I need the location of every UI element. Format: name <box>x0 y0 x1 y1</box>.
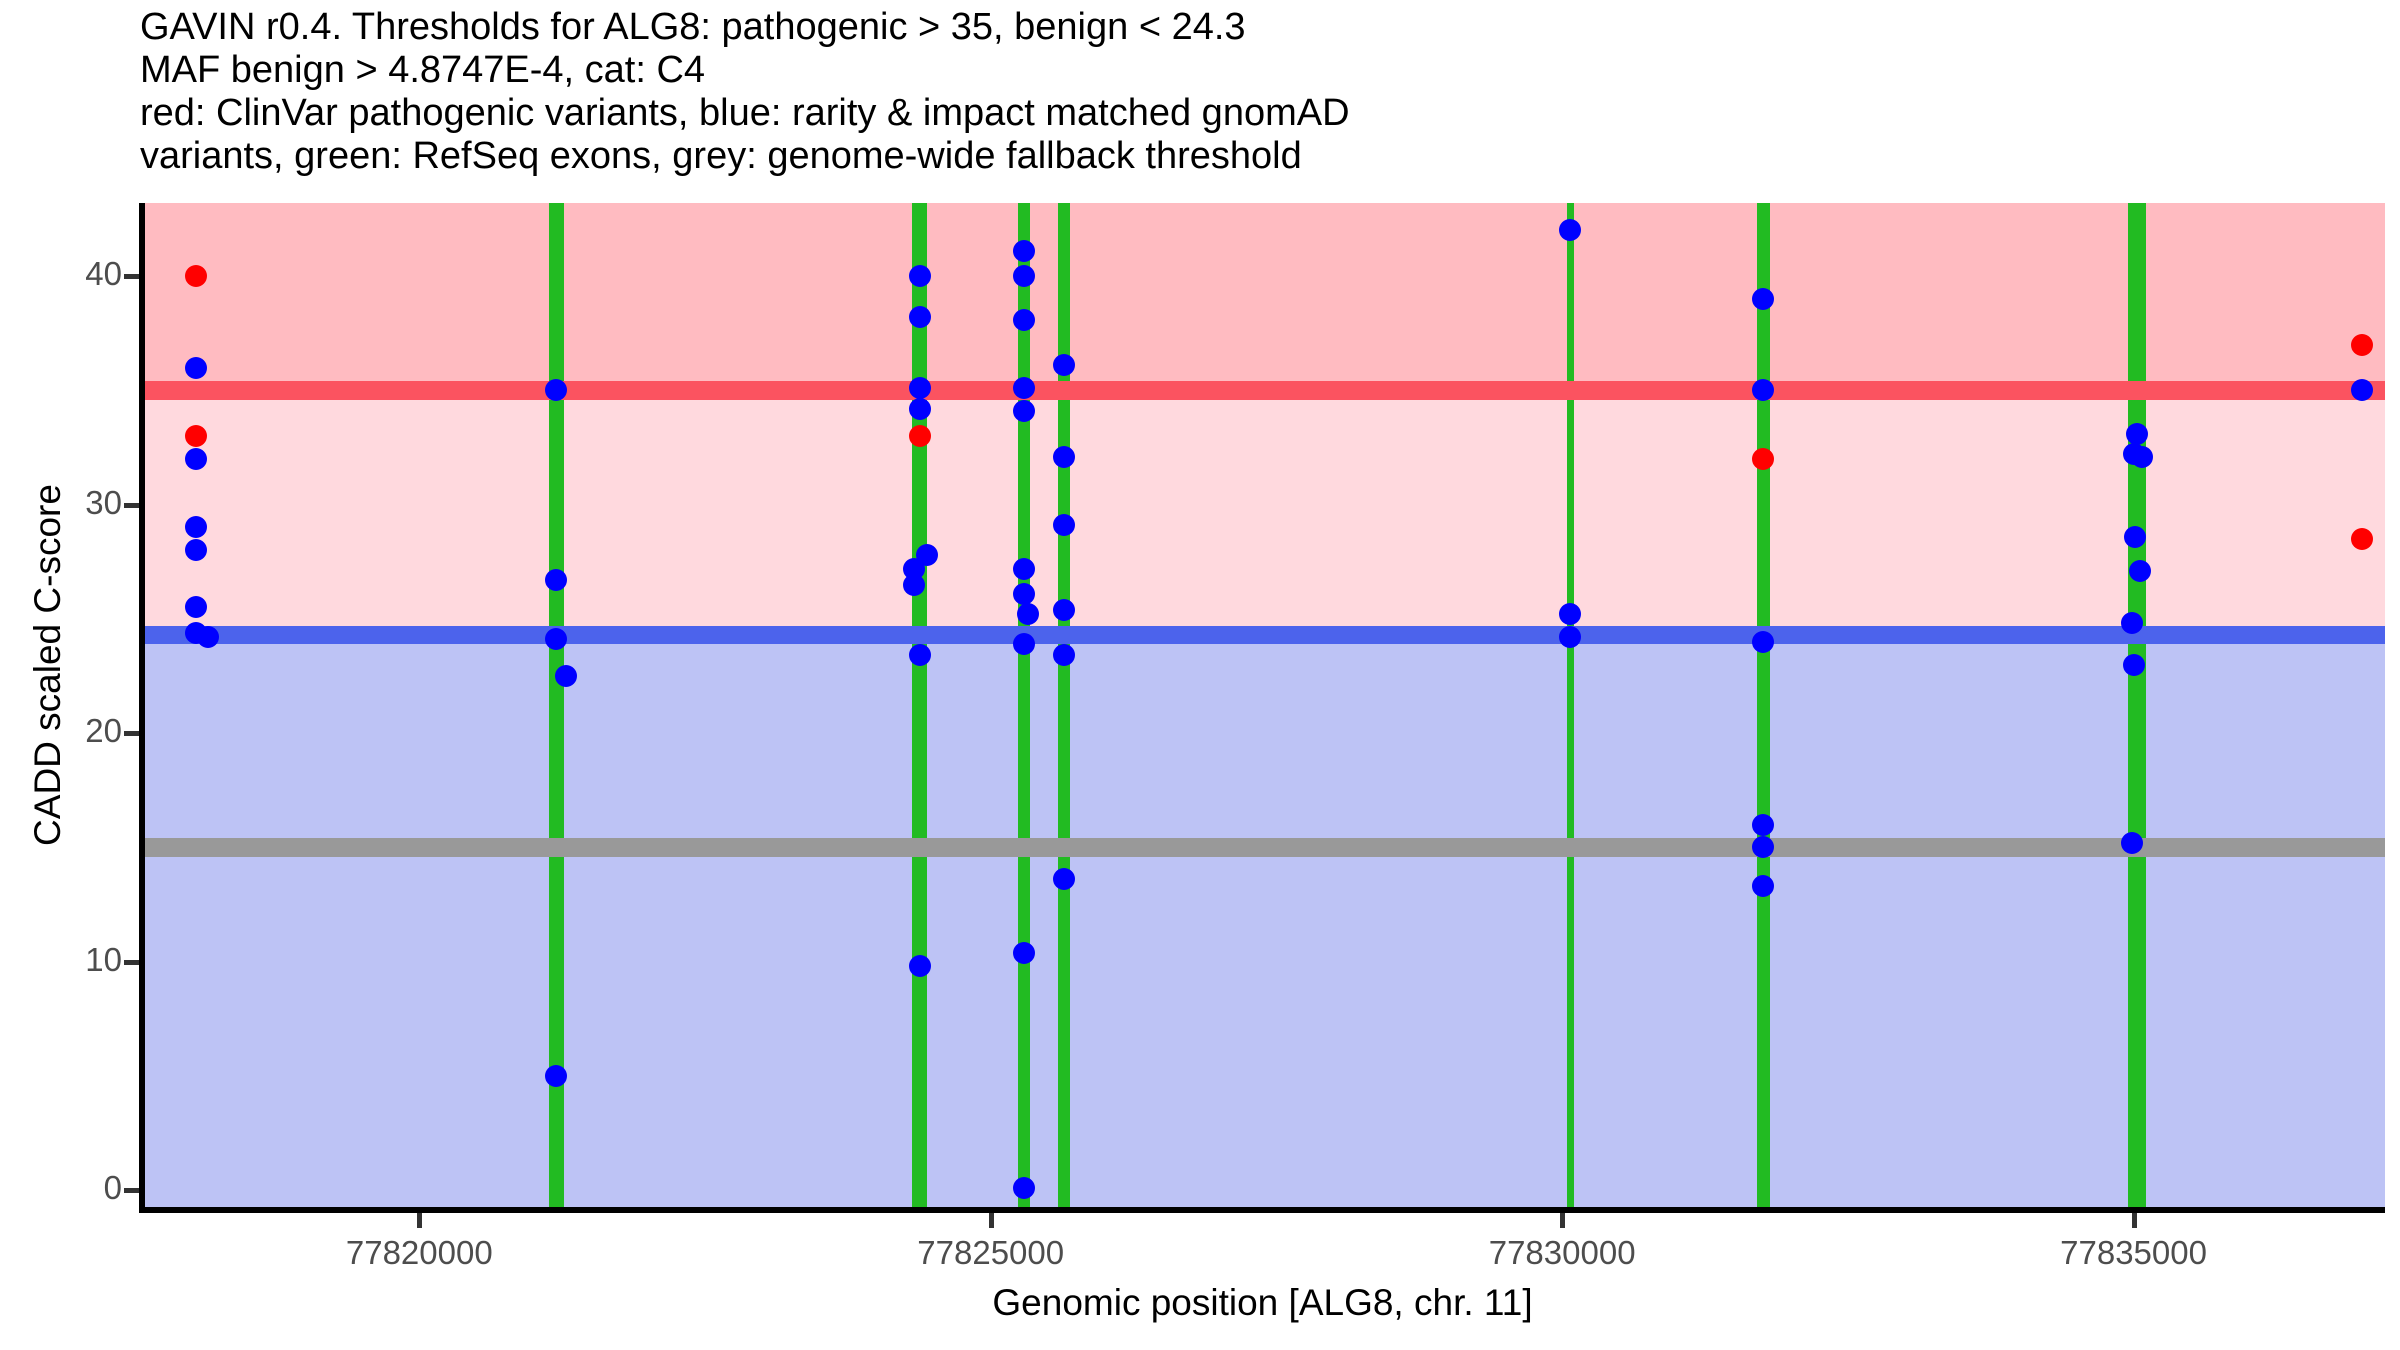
exon-2 <box>912 203 927 1213</box>
title-line-3: red: ClinVar pathogenic variants, blue: … <box>140 92 2240 135</box>
data-point <box>1013 583 1035 605</box>
data-point <box>1013 633 1035 655</box>
x-tick-mark <box>417 1213 422 1228</box>
data-point <box>1013 942 1035 964</box>
data-point <box>1053 446 1075 468</box>
data-point <box>1752 631 1774 653</box>
title-line-1: GAVIN r0.4. Thresholds for ALG8: pathoge… <box>140 6 2240 49</box>
title-line-4: variants, green: RefSeq exons, grey: gen… <box>140 135 2240 178</box>
y-axis-line <box>139 203 145 1213</box>
data-point <box>555 665 577 687</box>
exon-5 <box>1567 203 1574 1213</box>
pathogenic-band <box>145 203 2385 390</box>
y-axis-title: CADD scaled C-score <box>18 140 78 1190</box>
data-point <box>1013 377 1035 399</box>
data-point <box>909 425 931 447</box>
data-point <box>2351 334 2373 356</box>
data-point <box>909 265 931 287</box>
y-tick-mark <box>124 503 139 508</box>
x-tick-label: 77830000 <box>1412 1234 1712 1272</box>
gavin-cadd-scatter-figure: GAVIN r0.4. Thresholds for ALG8: pathoge… <box>0 0 2400 1350</box>
x-tick-label: 77820000 <box>269 1234 569 1272</box>
data-point <box>909 377 931 399</box>
x-axis-line <box>139 1207 2385 1213</box>
y-tick-mark <box>124 731 139 736</box>
vus-band <box>145 390 2385 635</box>
exon-3 <box>1018 203 1031 1213</box>
data-point <box>909 306 931 328</box>
data-point <box>1013 1177 1035 1199</box>
x-tick-mark <box>989 1213 994 1228</box>
y-tick-mark <box>124 1188 139 1193</box>
y-tick-mark <box>124 960 139 965</box>
x-tick-mark <box>2132 1213 2137 1228</box>
data-point <box>1013 240 1035 262</box>
exon-1 <box>549 203 564 1213</box>
data-point <box>909 955 931 977</box>
data-point <box>2123 654 2145 676</box>
benign-threshold-line <box>145 626 2385 644</box>
data-point <box>1053 599 1075 621</box>
pathogenic-threshold-line <box>145 381 2385 399</box>
title-line-2: MAF benign > 4.8747E-4, cat: C4 <box>140 49 2240 92</box>
data-point <box>1013 400 1035 422</box>
x-tick-label: 77835000 <box>1984 1234 2284 1272</box>
x-tick-mark <box>1560 1213 1565 1228</box>
data-point <box>1752 814 1774 836</box>
data-point <box>185 357 207 379</box>
exon-6 <box>1757 203 1770 1213</box>
data-point <box>2124 526 2146 548</box>
data-point <box>2126 423 2148 445</box>
x-tick-label: 77825000 <box>841 1234 1141 1272</box>
data-point <box>1053 354 1075 376</box>
data-point <box>197 626 219 648</box>
x-axis-title: Genomic position [ALG8, chr. 11] <box>140 1282 2385 1324</box>
fallback-threshold-line <box>145 838 2385 856</box>
data-point <box>1013 309 1035 331</box>
data-point <box>903 574 925 596</box>
data-point <box>1053 514 1075 536</box>
data-point <box>1013 265 1035 287</box>
data-point <box>909 398 931 420</box>
exon-7 <box>2128 203 2145 1213</box>
data-point <box>2131 446 2153 468</box>
benign-band <box>145 635 2385 1213</box>
plot-panel <box>145 203 2385 1213</box>
y-tick-mark <box>124 274 139 279</box>
data-point <box>1013 558 1035 580</box>
data-point <box>2351 528 2373 550</box>
figure-title-block: GAVIN r0.4. Thresholds for ALG8: pathoge… <box>140 6 2240 178</box>
